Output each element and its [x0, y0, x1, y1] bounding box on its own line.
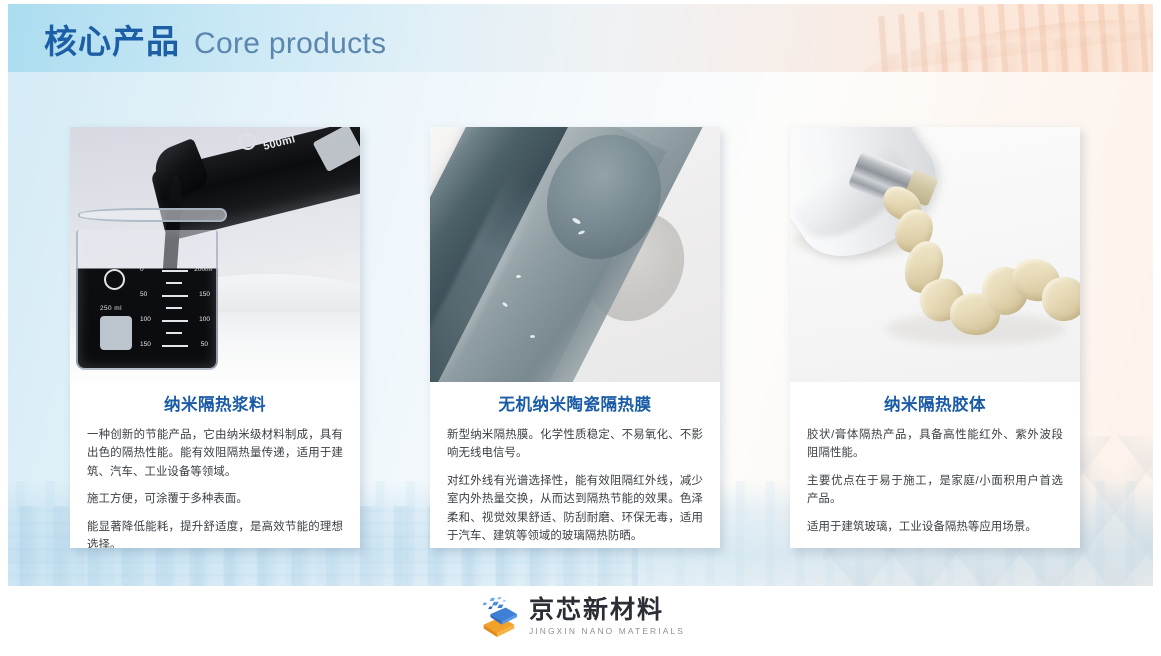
photo-film-fleck	[530, 335, 535, 338]
page-title-cn: 核心产品	[44, 23, 180, 60]
page-edge-left	[0, 0, 8, 656]
scale-left-1: 50	[140, 291, 147, 298]
product-card-paragraph: 胶状/膏体隔热产品，具备高性能红外、紫外波段阻隔性能。	[807, 426, 1063, 463]
scale-tick	[162, 270, 188, 272]
photo-beaker-label-patch	[100, 316, 132, 350]
product-card[interactable]: 500ml 250 ml 0 50 100 150 200ml 150	[70, 127, 360, 548]
page-edge-right	[1153, 0, 1161, 656]
product-card-paragraph: 对红外线有光谱选择性，能有效阻隔红外线，减少室内外热量交换，从而达到隔热节能的效…	[447, 472, 703, 546]
slide-footer: 京芯新材料 JINGXIN NANO MATERIALS	[8, 586, 1153, 650]
page-edge-bottom	[0, 650, 1161, 656]
company-logo: 京芯新材料 JINGXIN NANO MATERIALS	[476, 596, 685, 638]
scale-tick	[162, 345, 188, 347]
slide-root: 核心产品Core products 500ml	[0, 0, 1161, 656]
scale-tick	[166, 307, 182, 309]
product-card-paragraph: 新型纳米隔热膜。化学性质稳定、不易氧化、不影响无线电信号。	[447, 426, 703, 463]
product-card-paragraph: 适用于建筑玻璃，工业设备隔热等应用场景。	[807, 518, 1063, 536]
product-photo-nano-gel	[790, 127, 1080, 382]
product-card-body: 纳米隔热浆料 一种创新的节能产品，它由纳米级材料制成，具有出色的隔热性能。能有效…	[70, 382, 360, 548]
product-card-paragraph: 一种创新的节能产品，它由纳米级材料制成，具有出色的隔热性能。能有效阻隔热量传递，…	[87, 426, 343, 481]
product-card-paragraph: 能显著降低能耗，提升舒适度，是高效节能的理想选择。	[87, 518, 343, 548]
product-card-title: 无机纳米陶瓷隔热膜	[447, 396, 703, 416]
scale-tick	[162, 295, 188, 297]
photo-beaker-shape: 250 ml 0 50 100 150 200ml 150 100 50	[76, 230, 218, 370]
scale-tick	[162, 320, 188, 322]
company-logo-text: 京芯新材料 JINGXIN NANO MATERIALS	[529, 598, 685, 635]
scale-right-0: 200ml	[194, 266, 212, 273]
product-card-title: 纳米隔热浆料	[87, 396, 343, 416]
company-name-cn: 京芯新材料	[529, 598, 685, 623]
scale-right-3: 50	[201, 341, 208, 348]
product-card-title: 纳米隔热胶体	[807, 396, 1063, 416]
product-card-paragraph: 主要优点在于易于施工，是家庭/小面积用户首选产品。	[807, 472, 1063, 509]
scale-right-2: 100	[199, 316, 210, 323]
photo-beaker-scale: 0 50 100 150 200ml 150 100 50	[140, 264, 212, 356]
photo-film-fleck	[516, 275, 521, 278]
product-card-paragraph: 施工方便，可涂覆于多种表面。	[87, 490, 343, 508]
photo-bottle-label-patch	[313, 127, 360, 172]
product-photo-ceramic-film	[430, 127, 720, 382]
scale-left-3: 150	[140, 341, 151, 348]
photo-beaker-rim	[78, 208, 227, 222]
scale-tick	[166, 282, 182, 284]
scale-right-1: 150	[199, 291, 210, 298]
product-card-list: 500ml 250 ml 0 50 100 150 200ml 150	[8, 127, 1153, 552]
scale-left-2: 100	[140, 316, 151, 323]
product-card-body: 纳米隔热胶体 胶状/膏体隔热产品，具备高性能红外、紫外波段阻隔性能。 主要优点在…	[790, 382, 1080, 548]
scale-tick	[166, 332, 182, 334]
product-card[interactable]: 纳米隔热胶体 胶状/膏体隔热产品，具备高性能红外、紫外波段阻隔性能。 主要优点在…	[790, 127, 1080, 548]
product-photo-nano-slurry: 500ml 250 ml 0 50 100 150 200ml 150	[70, 127, 360, 382]
jingxin-logo-icon	[476, 596, 520, 638]
page-title: 核心产品Core products	[44, 15, 386, 63]
scale-left-0: 0	[140, 266, 144, 273]
photo-beaker-capacity-text: 250 ml	[100, 305, 122, 312]
photo-beaker-logo-icon	[104, 269, 125, 290]
page-title-en: Core products	[194, 27, 386, 60]
product-card-body: 无机纳米陶瓷隔热膜 新型纳米隔热膜。化学性质稳定、不易氧化、不影响无线电信号。 …	[430, 382, 720, 548]
company-name-en: JINGXIN NANO MATERIALS	[529, 627, 685, 635]
page-edge-top	[0, 0, 1161, 4]
product-card[interactable]: 无机纳米陶瓷隔热膜 新型纳米隔热膜。化学性质稳定、不易氧化、不影响无线电信号。 …	[430, 127, 720, 548]
